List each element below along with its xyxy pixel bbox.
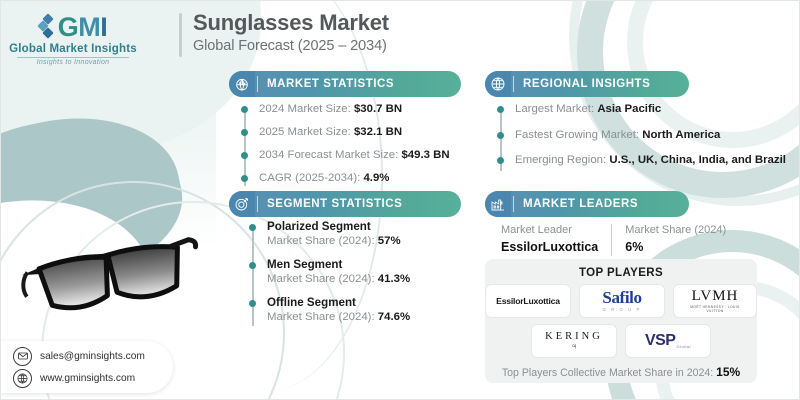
list-item: 2024 Market Size: $30.7 BN xyxy=(241,101,450,118)
market-share-label: Market Share (2024) xyxy=(625,223,726,239)
segment-share-value: 74.6% xyxy=(378,311,410,323)
segment-share-label: Market Share (2024): xyxy=(267,235,378,247)
bullet-dot-icon xyxy=(249,300,256,307)
section-header-market-statistics: MARKET STATISTICS xyxy=(229,71,461,97)
item-label: 2034 Forecast Market Size: xyxy=(259,149,401,161)
logo-company-name: Global Market Insights xyxy=(9,43,137,55)
segment-share-label: Market Share (2024): xyxy=(267,273,378,285)
player-name: VSP xyxy=(645,333,676,349)
player-name: LVMH xyxy=(692,289,739,304)
globe-icon xyxy=(485,71,511,97)
player-logo-lvmh: LVMH MOËT HENNESSY . LOUIS VUITTON xyxy=(673,284,757,318)
player-name: Safilo xyxy=(602,290,641,306)
player-name: EssilorLuxottica xyxy=(496,296,560,306)
segment-share-value: 41.3% xyxy=(378,273,410,285)
market-leader-summary: Market Leader EssilorLuxottica Market Sh… xyxy=(501,223,726,256)
page-subtitle: Global Forecast (2025 – 2034) xyxy=(193,38,389,54)
logo-tagline: Insights to Innovation xyxy=(37,59,110,66)
diamond-icon xyxy=(39,15,55,41)
bullet-dot-icon xyxy=(241,129,248,136)
logo-initials: GMI xyxy=(58,14,108,41)
item-value: North America xyxy=(642,129,720,141)
gmi-logo: GMI Global Market Insights Insights to I… xyxy=(9,11,137,69)
page-title: Sunglasses Market xyxy=(193,9,389,37)
contact-email-row[interactable]: sales@gminsights.com xyxy=(13,347,173,366)
factory-icon xyxy=(485,191,511,217)
pill-separator xyxy=(513,196,514,212)
market-leader-value: EssilorLuxottica xyxy=(501,239,598,256)
item-value: $32.1 BN xyxy=(354,126,402,138)
list-item: Offline Segment Market Share (2024): 74.… xyxy=(249,295,410,326)
top-players-panel: TOP PLAYERS EssilorLuxottica Safilo G R … xyxy=(485,259,757,383)
target-chart-icon xyxy=(229,191,255,217)
section-header-regional-insights: REGIONAL INSIGHTS xyxy=(485,71,689,97)
section-label: SEGMENT STATISTICS xyxy=(267,198,402,210)
logo-letter-i: I xyxy=(100,12,107,42)
market-share-value: 6% xyxy=(625,239,726,256)
item-label: Fastest Growing Market: xyxy=(515,129,642,141)
bullet-dot-icon xyxy=(241,106,248,113)
kering-owl-icon: ♃ xyxy=(571,343,578,350)
section-label: MARKET LEADERS xyxy=(523,198,638,210)
bullet-dot-icon xyxy=(249,224,256,231)
segment-title: Polarized Segment xyxy=(267,219,371,234)
player-logo-essilorluxottica: EssilorLuxottica xyxy=(485,284,571,318)
sunglasses-image xyxy=(15,223,205,333)
contact-email: sales@gminsights.com xyxy=(40,351,145,362)
list-item: Emerging Region: U.S., UK, China, India,… xyxy=(497,152,786,169)
item-value: U.S., UK, China, India, and Brazil xyxy=(609,154,786,166)
footer-value: 15% xyxy=(716,365,740,379)
player-logo-vsp: VSP Global xyxy=(625,324,711,358)
player-sub: Global xyxy=(676,344,691,349)
segment-share-value: 57% xyxy=(378,235,401,247)
globe-icon xyxy=(13,369,32,388)
logo-letter-g: G xyxy=(58,12,79,42)
item-value: 4.9% xyxy=(363,172,389,184)
logo-divider xyxy=(17,57,129,58)
section-label: REGIONAL INSIGHTS xyxy=(523,78,650,90)
segment-statistics-list: Polarized Segment Market Share (2024): 5… xyxy=(249,219,410,333)
title-divider xyxy=(179,13,182,57)
contact-website: www.gminsights.com xyxy=(40,373,135,384)
leader-divider xyxy=(611,224,612,256)
item-value: $30.7 BN xyxy=(354,103,402,115)
item-label: Emerging Region: xyxy=(515,154,609,166)
list-item: Men Segment Market Share (2024): 41.3% xyxy=(249,257,410,288)
envelope-icon xyxy=(13,347,32,366)
top-players-row-2: KERING ♃ VSP Global xyxy=(485,324,757,358)
player-sub: G R O U P xyxy=(603,307,642,312)
bullet-dot-icon xyxy=(249,262,256,269)
pill-separator xyxy=(257,76,258,92)
item-label: Largest Market: xyxy=(515,103,597,115)
list-item: Largest Market: Asia Pacific xyxy=(497,101,786,118)
list-item: CAGR (2025-2034): 4.9% xyxy=(241,170,450,187)
globe-chart-icon xyxy=(229,71,255,97)
logo-letter-m: M xyxy=(78,12,100,42)
segment-title: Men Segment xyxy=(267,257,342,272)
item-label: CAGR (2025-2034): xyxy=(259,172,363,184)
bullet-dot-icon xyxy=(241,175,248,182)
item-value: $49.3 BN xyxy=(401,149,449,161)
item-label: 2024 Market Size: xyxy=(259,103,354,115)
list-item: Polarized Segment Market Share (2024): 5… xyxy=(249,219,410,250)
list-item: 2025 Market Size: $32.1 BN xyxy=(241,124,450,141)
market-leader-column: Market Leader EssilorLuxottica xyxy=(501,223,598,256)
regional-insights-list: Largest Market: Asia Pacific Fastest Gro… xyxy=(497,101,786,178)
contact-box: sales@gminsights.com www.gminsights.com xyxy=(1,341,173,393)
top-players-title: TOP PLAYERS xyxy=(485,267,757,279)
player-logo-kering: KERING ♃ xyxy=(531,324,617,358)
contact-website-row[interactable]: www.gminsights.com xyxy=(13,369,173,388)
section-header-segment-statistics: SEGMENT STATISTICS xyxy=(229,191,461,217)
top-players-footer: Top Players Collective Market Share in 2… xyxy=(485,365,757,379)
list-item: Fastest Growing Market: North America xyxy=(497,127,786,144)
section-label: MARKET STATISTICS xyxy=(267,78,394,90)
bullet-dot-icon xyxy=(497,132,504,139)
segment-title: Offline Segment xyxy=(267,295,356,310)
bullet-dot-icon xyxy=(497,157,504,164)
infographic-canvas: GMI Global Market Insights Insights to I… xyxy=(0,0,800,400)
item-value: Asia Pacific xyxy=(597,103,661,115)
item-label: 2025 Market Size: xyxy=(259,126,354,138)
bullet-dot-icon xyxy=(497,106,504,113)
footer-label: Top Players Collective Market Share in 2… xyxy=(502,367,716,379)
logo-wordmark-row: GMI xyxy=(39,14,108,41)
segment-share-label: Market Share (2024): xyxy=(267,311,378,323)
market-share-column: Market Share (2024) 6% xyxy=(625,223,726,256)
bullet-dot-icon xyxy=(241,152,248,159)
player-sub: MOËT HENNESSY . LOUIS VUITTON xyxy=(682,305,748,313)
player-logo-safilo: Safilo G R O U P xyxy=(579,284,665,318)
top-players-row-1: EssilorLuxottica Safilo G R O U P LVMH M… xyxy=(485,284,757,318)
pill-separator xyxy=(513,76,514,92)
list-item: 2034 Forecast Market Size: $49.3 BN xyxy=(241,147,450,164)
pill-separator xyxy=(257,196,258,212)
title-block: Sunglasses Market Global Forecast (2025 … xyxy=(193,9,389,54)
market-statistics-list: 2024 Market Size: $30.7 BN 2025 Market S… xyxy=(241,101,450,193)
market-leader-label: Market Leader xyxy=(501,223,598,239)
section-header-market-leaders: MARKET LEADERS xyxy=(485,191,689,217)
